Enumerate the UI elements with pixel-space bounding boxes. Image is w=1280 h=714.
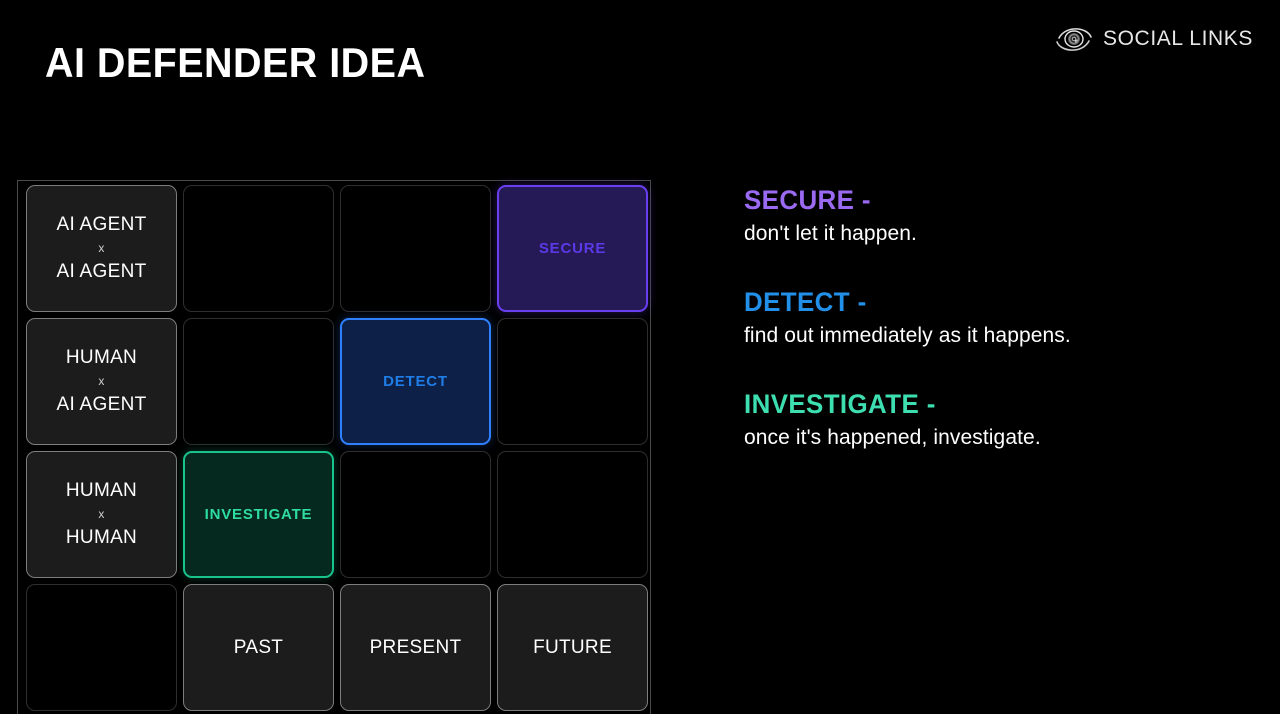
explanation-item-detect: DETECT - find out immediately as it happ… xyxy=(744,287,1244,348)
explanation-description-detect: find out immediately as it happens. xyxy=(744,324,1071,347)
matrix-cell-r2c2[interactable] xyxy=(183,318,334,445)
brand-logo: SOCIAL LINKS xyxy=(1054,24,1253,54)
explanation-term-detect: DETECT - xyxy=(744,287,1224,318)
row-header-human-x-human: HUMAN x HUMAN xyxy=(26,451,177,578)
row-header-separator: x xyxy=(66,505,137,524)
matrix-cell-investigate[interactable]: INVESTIGATE xyxy=(183,451,334,578)
row-header-top: HUMAN xyxy=(66,347,137,368)
row-header-human-x-ai-agent: HUMAN x AI AGENT xyxy=(26,318,177,445)
row-header-bottom: AI AGENT xyxy=(56,394,146,415)
matrix-cell-r3c3[interactable] xyxy=(340,451,491,578)
row-header-bottom: AI AGENT xyxy=(56,261,146,282)
matrix-cell-r1c2[interactable] xyxy=(183,185,334,312)
column-header-present: PRESENT xyxy=(340,584,491,711)
row-header-top: HUMAN xyxy=(66,480,137,501)
column-header-past: PAST xyxy=(183,584,334,711)
row-header-separator: x xyxy=(56,372,146,391)
eye-spiral-icon xyxy=(1054,24,1094,54)
explanation-description-secure: don't let it happen. xyxy=(744,222,917,245)
explanation-item-secure: SECURE - don't let it happen. xyxy=(744,185,1244,246)
explanation-description-investigate: once it's happened, investigate. xyxy=(744,426,1041,449)
explanation-item-investigate: INVESTIGATE - once it's happened, invest… xyxy=(744,389,1244,450)
brand-name: SOCIAL LINKS xyxy=(1103,27,1253,51)
matrix-cell-detect-label: DETECT xyxy=(383,373,448,390)
explanation-term-investigate: INVESTIGATE - xyxy=(744,389,1224,420)
row-header-separator: x xyxy=(56,239,146,258)
matrix-corner-cell xyxy=(26,584,177,711)
column-header-future-label: FUTURE xyxy=(533,637,612,659)
column-header-present-label: PRESENT xyxy=(370,637,462,659)
row-header-bottom: HUMAN xyxy=(66,527,137,548)
matrix-cell-r3c4[interactable] xyxy=(497,451,648,578)
matrix-cell-r1c3[interactable] xyxy=(340,185,491,312)
matrix-cell-investigate-label: INVESTIGATE xyxy=(205,506,313,523)
matrix-cell-secure-label: SECURE xyxy=(539,240,606,257)
matrix-grid: AI AGENT x AI AGENT SECURE HUMAN x AI AG… xyxy=(23,182,657,710)
matrix-cell-detect[interactable]: DETECT xyxy=(340,318,491,445)
row-header-ai-agent-x-ai-agent: AI AGENT x AI AGENT xyxy=(26,185,177,312)
page-title: AI DEFENDER IDEA xyxy=(45,39,425,87)
explanation-list: SECURE - don't let it happen. DETECT - f… xyxy=(744,185,1244,451)
column-header-past-label: PAST xyxy=(234,637,283,659)
matrix-frame: AI AGENT x AI AGENT SECURE HUMAN x AI AG… xyxy=(17,180,651,714)
matrix-cell-r2c4[interactable] xyxy=(497,318,648,445)
matrix-cell-secure[interactable]: SECURE xyxy=(497,185,648,312)
explanation-term-secure: SECURE - xyxy=(744,185,1224,216)
row-header-top: AI AGENT xyxy=(56,214,146,235)
column-header-future: FUTURE xyxy=(497,584,648,711)
